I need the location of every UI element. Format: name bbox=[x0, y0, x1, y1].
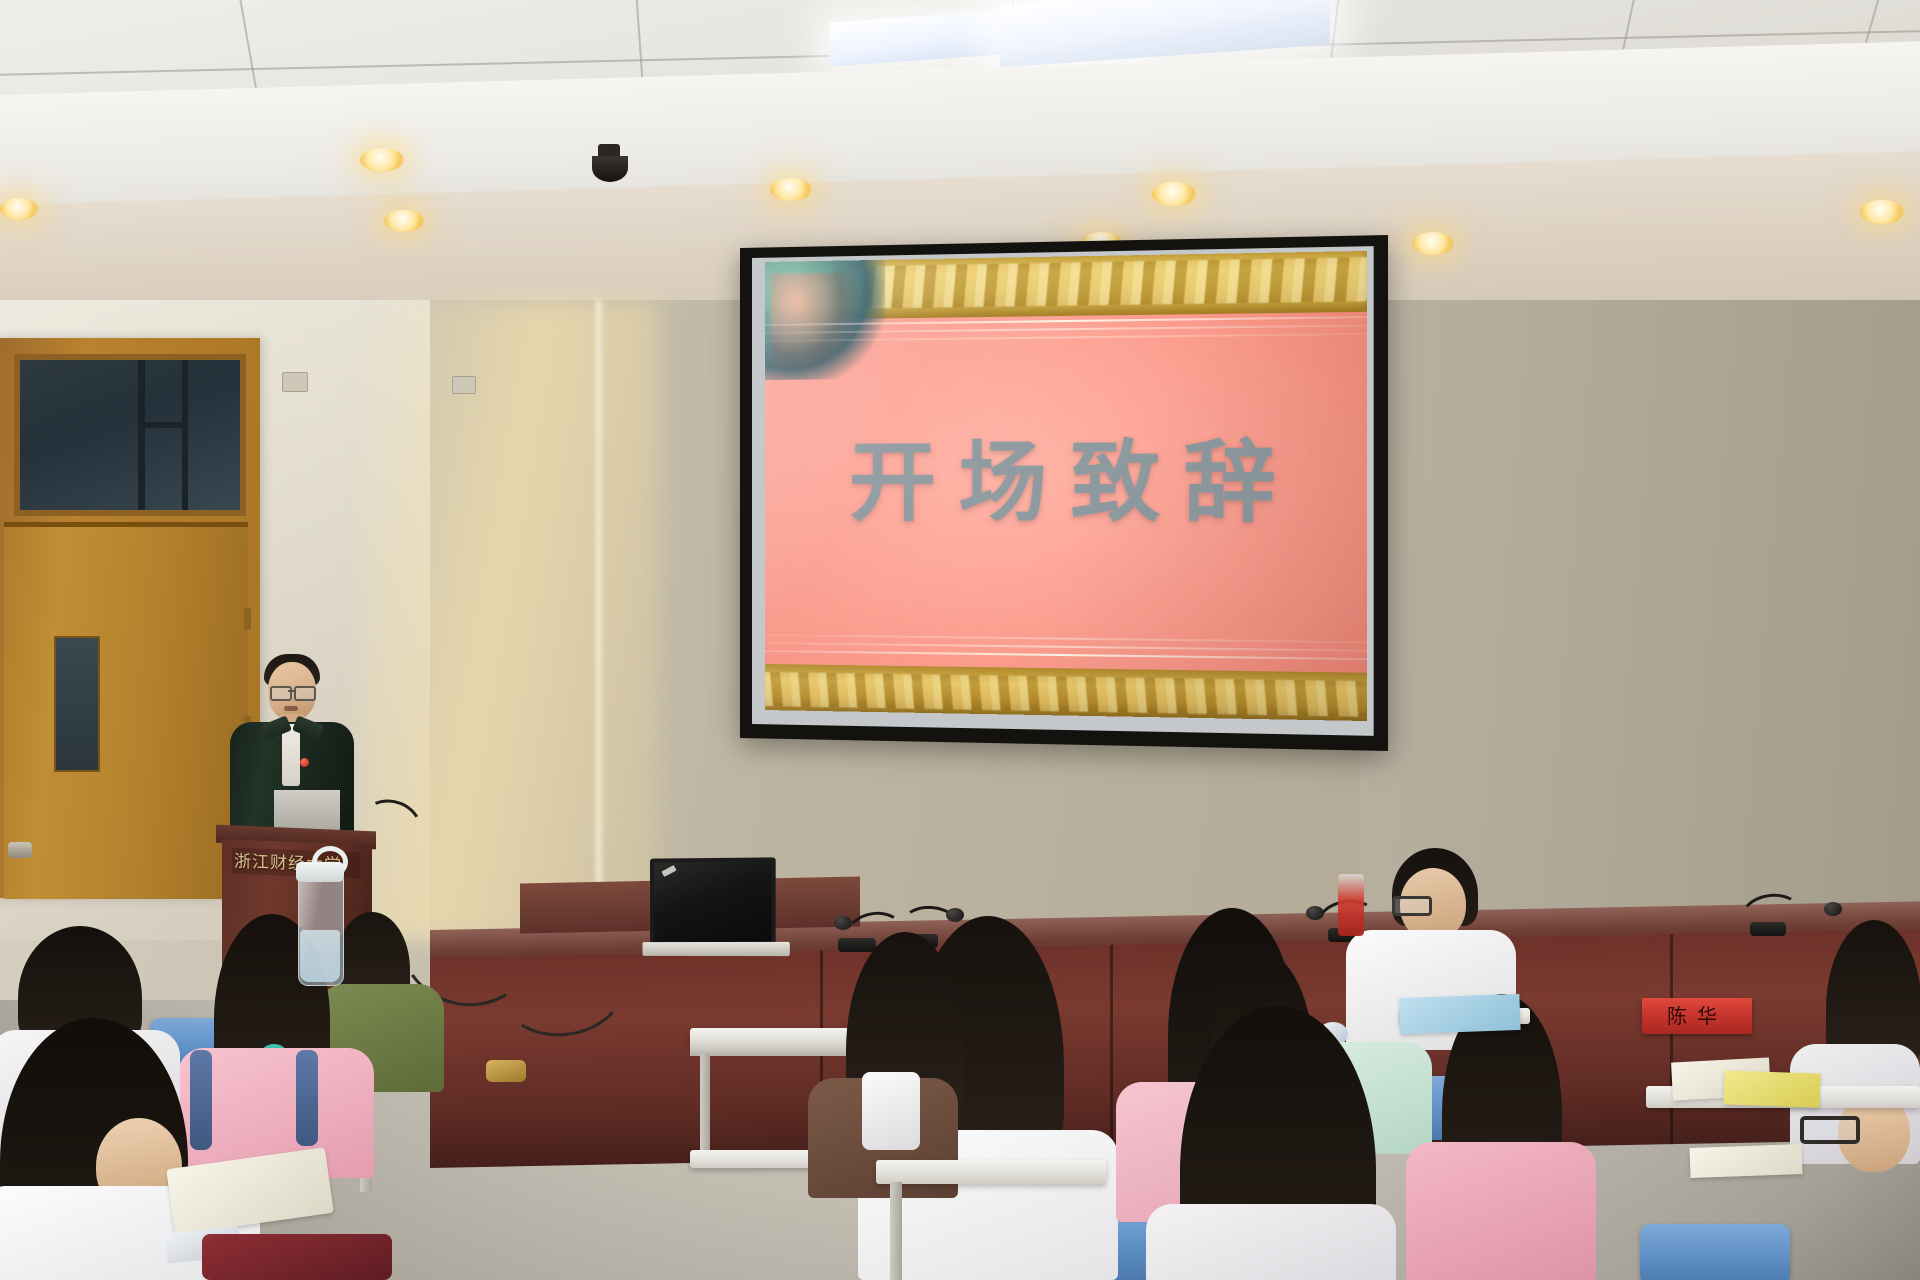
downlight-icon bbox=[1152, 182, 1196, 206]
ceiling-camera bbox=[598, 144, 628, 182]
slide-title: 开场致辞 bbox=[765, 438, 1367, 528]
door-leaf[interactable] bbox=[4, 522, 248, 899]
lecture-hall-photo: 开场致辞 浙 bbox=[0, 0, 1920, 1280]
eyeglasses-icon bbox=[1800, 1116, 1860, 1144]
wall-column-edge bbox=[596, 300, 606, 920]
projection-screen-surface: 开场致辞 bbox=[765, 251, 1367, 721]
notebook bbox=[1723, 1070, 1820, 1107]
downlight-icon bbox=[1860, 200, 1904, 224]
tote-bag bbox=[202, 1234, 392, 1280]
water-bottle-red[interactable] bbox=[1338, 874, 1364, 936]
camera-mount-icon bbox=[598, 144, 620, 156]
notebook bbox=[1399, 994, 1520, 1034]
downlight-icon bbox=[1412, 232, 1454, 255]
speaker-mouth bbox=[284, 706, 298, 711]
downlight-icon bbox=[0, 198, 38, 220]
wall-socket[interactable] bbox=[282, 372, 308, 392]
door-handle-icon[interactable] bbox=[8, 842, 32, 858]
slide-corner-motif-inner bbox=[771, 272, 855, 370]
eyeglasses-bridge-icon bbox=[288, 690, 295, 692]
classroom-chair[interactable] bbox=[1640, 1224, 1790, 1280]
downlight-icon bbox=[770, 178, 812, 201]
microphone-head-icon bbox=[1306, 906, 1324, 920]
eyeglasses-icon bbox=[1392, 896, 1432, 916]
shirt-placket bbox=[282, 724, 300, 786]
eyeglasses-icon bbox=[270, 686, 292, 701]
door-transom-window bbox=[14, 354, 246, 516]
right-wall bbox=[1360, 300, 1920, 940]
backpack-strap bbox=[190, 1050, 212, 1150]
bottle-water-level bbox=[300, 930, 340, 982]
wall-socket[interactable] bbox=[452, 376, 476, 394]
microphone-head-icon bbox=[1824, 902, 1842, 916]
person-body bbox=[1406, 1142, 1596, 1280]
person-shirt bbox=[862, 1072, 920, 1150]
dome-camera-icon bbox=[592, 156, 628, 182]
person-body bbox=[1146, 1204, 1396, 1280]
bottle-cap[interactable] bbox=[296, 862, 344, 882]
lapel-pin-icon bbox=[300, 758, 309, 767]
microphone-head-icon bbox=[834, 916, 852, 930]
laptop-keyboard-base[interactable] bbox=[643, 942, 790, 956]
eyeglasses-icon bbox=[294, 686, 316, 701]
microphone-head-icon bbox=[946, 908, 964, 922]
name-placard: 陈华 bbox=[1642, 998, 1752, 1034]
cable-adapter bbox=[486, 1060, 526, 1082]
door-vision-panel bbox=[54, 636, 100, 772]
downlight-icon bbox=[360, 148, 404, 172]
backpack-strap bbox=[296, 1050, 318, 1146]
student-desk bbox=[876, 1160, 1106, 1184]
door-hinge-icon bbox=[244, 608, 251, 630]
downlight-icon bbox=[384, 210, 424, 232]
notebook bbox=[1690, 1144, 1803, 1178]
